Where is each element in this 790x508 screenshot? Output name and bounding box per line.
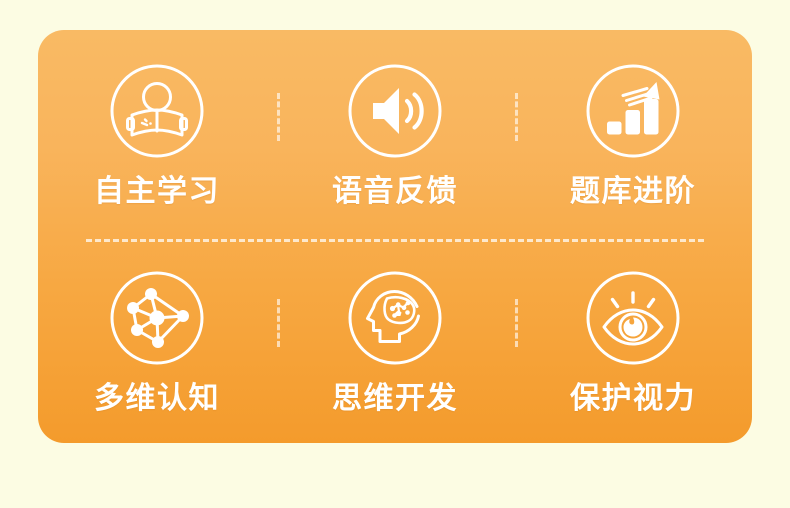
feature-banner: 自主学习 语音反馈 xyxy=(0,0,790,508)
feature-label: 语音反馈 xyxy=(332,177,458,207)
feature-item-multidimensional-cognition[interactable]: 多维认知 xyxy=(38,237,276,444)
reading-person-icon xyxy=(105,59,209,163)
column-divider-2 xyxy=(515,93,518,141)
column-divider-1 xyxy=(277,93,280,141)
column-divider-3 xyxy=(277,299,280,347)
speaker-sound-icon xyxy=(343,59,447,163)
feature-grid: 自主学习 语音反馈 xyxy=(38,30,752,443)
bar-chart-growth-icon xyxy=(581,59,685,163)
column-divider-4 xyxy=(515,299,518,347)
feature-label: 多维认知 xyxy=(94,384,220,414)
feature-item-voice-feedback[interactable]: 语音反馈 xyxy=(276,30,514,237)
feature-item-eye-protection[interactable]: 保护视力 xyxy=(514,237,752,444)
feature-label: 保护视力 xyxy=(570,384,696,414)
feature-card: 自主学习 语音反馈 xyxy=(38,30,752,443)
brain-head-icon xyxy=(343,266,447,370)
feature-item-thinking-development[interactable]: 思维开发 xyxy=(276,237,514,444)
feature-label: 题库进阶 xyxy=(570,177,696,207)
feature-label: 自主学习 xyxy=(94,177,220,207)
network-nodes-icon xyxy=(105,266,209,370)
feature-item-self-study[interactable]: 自主学习 xyxy=(38,30,276,237)
row-divider xyxy=(86,239,704,242)
feature-item-question-bank[interactable]: 题库进阶 xyxy=(514,30,752,237)
feature-label: 思维开发 xyxy=(332,384,458,414)
eye-vision-icon xyxy=(581,266,685,370)
